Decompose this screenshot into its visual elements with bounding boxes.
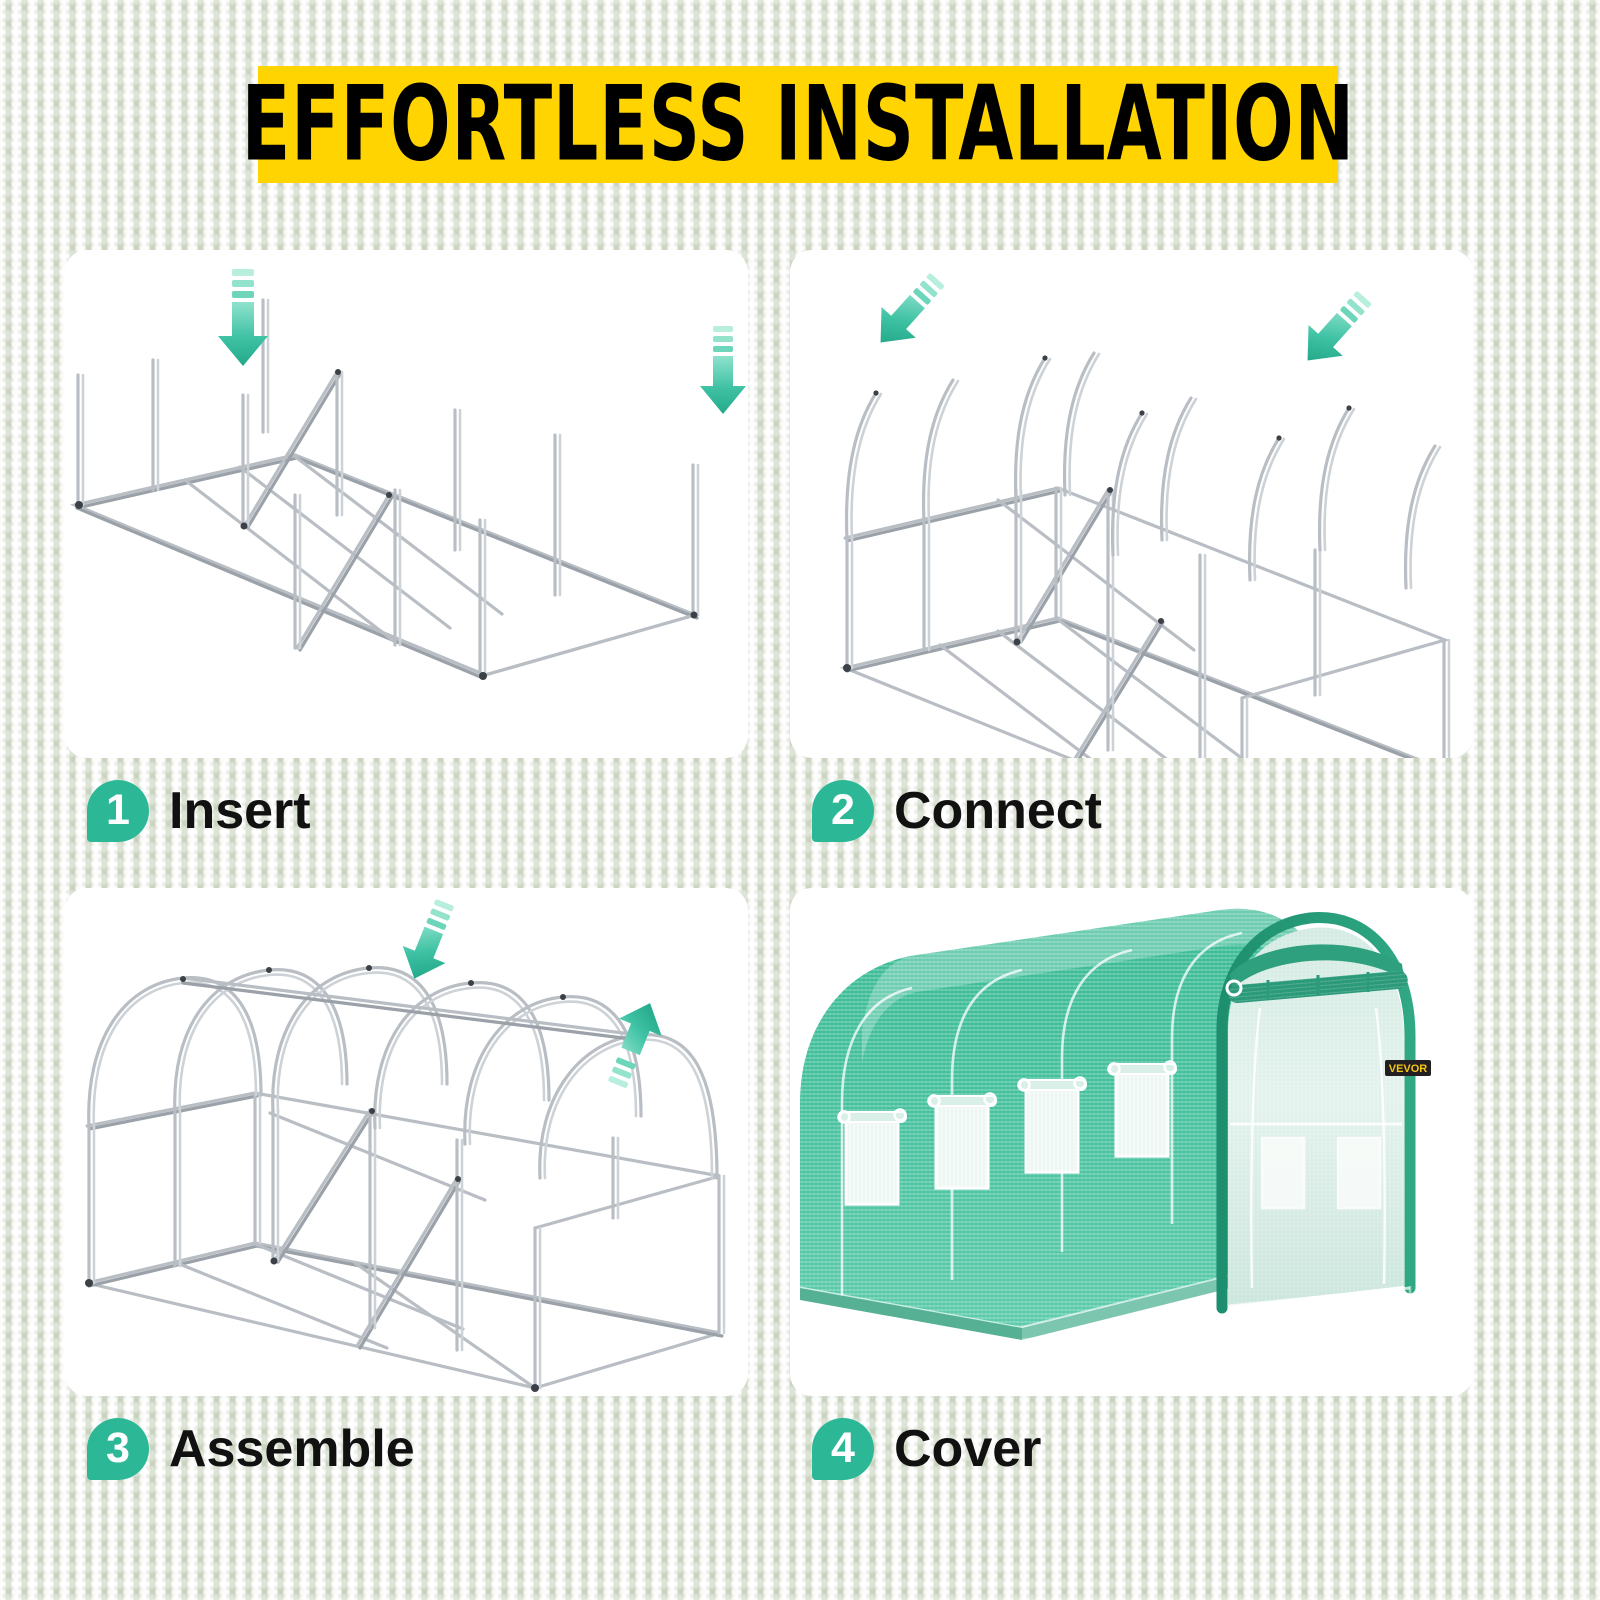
figure-frame-with-hoop-segments <box>790 250 1473 758</box>
step-4-label: 4 Cover <box>812 1412 1041 1486</box>
title-banner: EFFORTLESS INSTALLATION <box>258 66 1338 183</box>
interior-window <box>1262 1138 1304 1208</box>
window-flap <box>1109 1062 1177 1157</box>
step-3-title: Assemble <box>169 1423 415 1475</box>
window-flap <box>839 1110 907 1205</box>
step-1-label: 1 Insert <box>87 774 311 848</box>
step-4-title: Cover <box>894 1423 1041 1475</box>
page-title: EFFORTLESS INSTALLATION <box>241 73 1354 176</box>
figure-covered-green-greenhouse: VEVOR <box>790 888 1473 1396</box>
down-arrow-icon <box>700 326 746 414</box>
installation-steps-grid: 1 Insert <box>0 250 1600 1600</box>
step-4-badge: 4 <box>812 1418 874 1480</box>
step-2-badge: 2 <box>812 780 874 842</box>
window-flap <box>929 1094 997 1189</box>
interior-window <box>1338 1138 1380 1208</box>
step-4-card: VEVOR <box>790 888 1473 1396</box>
figure-base-frame-with-posts <box>65 250 748 758</box>
diagonal-arrow-icon <box>863 264 954 358</box>
step-2-label: 2 Connect <box>812 774 1102 848</box>
down-arrow-icon <box>218 269 268 366</box>
step-1-card <box>65 250 748 758</box>
step-3-badge: 3 <box>87 1418 149 1480</box>
vevor-logo-text: VEVOR <box>1389 1063 1428 1075</box>
vevor-logo: VEVOR <box>1385 1060 1431 1076</box>
diagonal-arrow-icon <box>1290 282 1381 376</box>
step-1-title: Insert <box>169 785 311 837</box>
step-3-card <box>65 888 748 1396</box>
step-3-label: 3 Assemble <box>87 1412 415 1486</box>
step-2-card <box>790 250 1473 758</box>
figure-complete-tunnel-frame <box>65 888 748 1396</box>
step-2-title: Connect <box>894 785 1102 837</box>
window-flap <box>1019 1078 1087 1173</box>
step-1-badge: 1 <box>87 780 149 842</box>
